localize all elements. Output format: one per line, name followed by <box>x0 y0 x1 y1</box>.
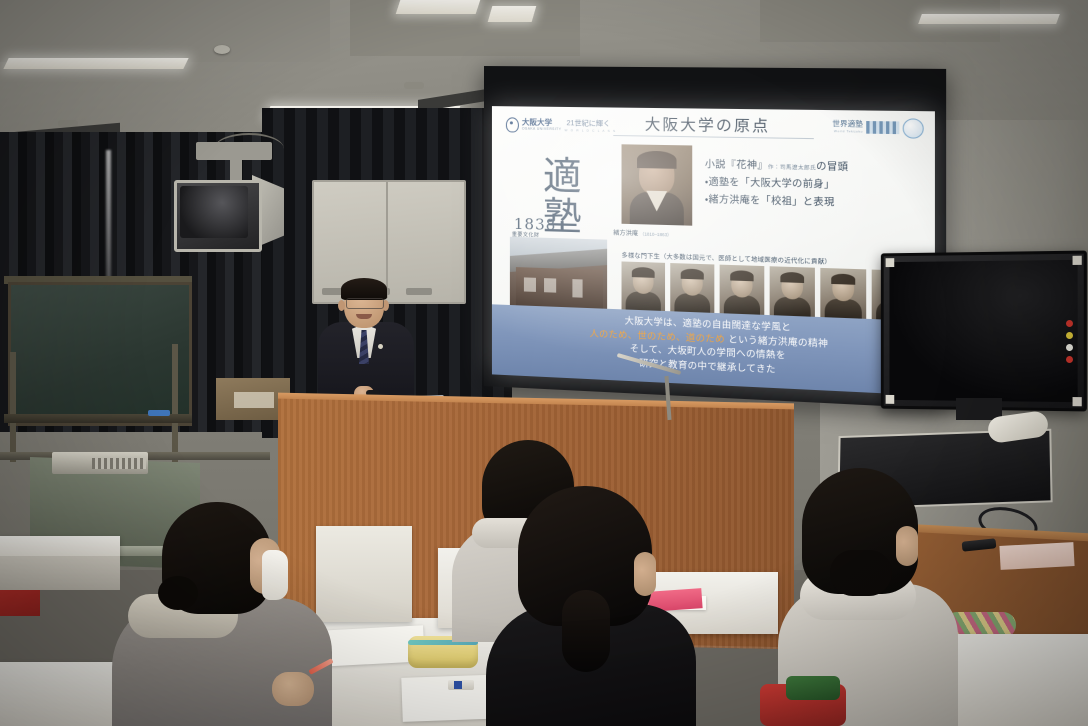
low-ponytail <box>830 550 892 596</box>
chalkboard <box>8 282 192 426</box>
slide-bullet-block: 小説『花神』作：司馬遼太郎氏の冒頭 ・適塾を「大阪大学の前身」 ・緒方洪庵を「校… <box>705 156 922 211</box>
fluorescent-light <box>918 14 1060 24</box>
slide-banner: 大阪大学は、適塾の自由闊達な学風と 人のため、世のため、道のため という緒方洪庵… <box>492 304 935 395</box>
portrait-torso <box>774 297 811 317</box>
paper-sheet[interactable] <box>999 542 1074 570</box>
presenter-glasses <box>346 298 384 309</box>
student-neck <box>634 552 656 596</box>
portrait-hair <box>681 269 704 280</box>
bullet-lead-author: 作：司馬遼太郎氏 <box>768 164 816 171</box>
ogata-name: 緒方洪庵 <box>613 231 638 238</box>
bullet-item-2: ・緒方洪庵を「校祖」と表現 <box>705 191 922 211</box>
bullet-lead: 小説『花神』作：司馬遼太郎氏の冒頭 <box>705 156 922 175</box>
presenter-smile <box>356 314 372 319</box>
portrait-torso <box>674 293 710 313</box>
chalkboard-leg <box>172 344 178 462</box>
fluorescent-light <box>488 6 537 22</box>
presenter-hair <box>341 278 387 300</box>
tv-screen <box>889 260 1077 402</box>
building-window <box>524 277 536 292</box>
disciple-portrait <box>622 261 666 311</box>
rca-connector-white[interactable] <box>1066 344 1073 351</box>
disciple-portrait <box>670 263 714 313</box>
crt-screen <box>180 186 248 238</box>
building-window <box>572 279 582 298</box>
disciple-portrait <box>720 265 765 315</box>
portrait-hair <box>637 151 677 169</box>
portrait-hair <box>632 267 655 278</box>
bullet-lead-main: 小説『花神』 <box>705 159 768 172</box>
portrait-torso <box>626 291 661 311</box>
box-label <box>234 392 274 408</box>
presenter-lapel-pin <box>378 344 383 349</box>
tekijuku-building-photo <box>510 237 607 315</box>
eraser-sleeve <box>454 681 462 689</box>
rca-connector-red[interactable] <box>1066 356 1073 363</box>
hair-bun <box>158 576 198 610</box>
ceiling-vent <box>404 82 424 89</box>
student-desk <box>0 662 118 726</box>
projection-screen: 大阪大学 OSAKA UNIVERSITY 21世紀に輝く W O R L D … <box>484 66 946 409</box>
portrait-hair <box>730 270 753 281</box>
student-desk <box>0 536 120 558</box>
portrait-hair <box>780 272 804 283</box>
ponytail <box>562 590 610 672</box>
tv-corner-bracket <box>886 258 895 267</box>
rca-connector-red[interactable] <box>1066 320 1073 327</box>
student-hand <box>272 672 314 706</box>
building-caption: 重要文化財 <box>512 231 540 239</box>
green-bag[interactable] <box>786 676 840 700</box>
disciple-portrait <box>770 266 815 317</box>
student-neck <box>896 526 918 566</box>
face-mask <box>262 550 288 600</box>
disciple-portrait <box>820 268 866 319</box>
chalk-box[interactable] <box>148 410 170 416</box>
classroom-lecture-photo: 大阪大学 OSAKA UNIVERSITY 21世紀に輝く W O R L D … <box>0 0 1088 726</box>
portrait-torso <box>724 295 760 315</box>
ogata-caption: 緒方洪庵 （1810–1863） <box>613 228 671 239</box>
projector-vent <box>92 458 146 469</box>
tv-corner-bracket <box>1073 256 1082 265</box>
ogata-koan-portrait <box>622 144 693 225</box>
smoke-detector <box>214 45 230 54</box>
flat-screen-tv[interactable] <box>881 251 1087 412</box>
fluorescent-light <box>3 58 188 69</box>
ogata-years: （1810–1863） <box>640 231 672 237</box>
portrait-torso <box>825 298 862 318</box>
portrait-hair <box>831 273 855 284</box>
student-front-left <box>112 502 332 726</box>
ceiling-panel <box>0 0 330 62</box>
banner-line-2-post: という緒方洪庵の精神 <box>725 335 828 350</box>
student-center-front <box>486 486 696 726</box>
tv-corner-bracket <box>1073 397 1082 406</box>
building-window <box>544 278 556 293</box>
presentation-slide: 大阪大学 OSAKA UNIVERSITY 21世紀に輝く W O R L D … <box>492 106 935 396</box>
fluorescent-light <box>396 0 481 14</box>
presenter-ear <box>338 300 345 311</box>
rca-connector-yellow[interactable] <box>1066 332 1073 339</box>
tv-corner-bracket <box>886 395 895 404</box>
student-desk-side <box>0 556 120 590</box>
bullet-lead-tail: の冒頭 <box>816 161 848 173</box>
bullet-item-1: ・適塾を「大阪大学の前身」 <box>705 173 922 192</box>
chalkboard-leg <box>10 352 16 462</box>
